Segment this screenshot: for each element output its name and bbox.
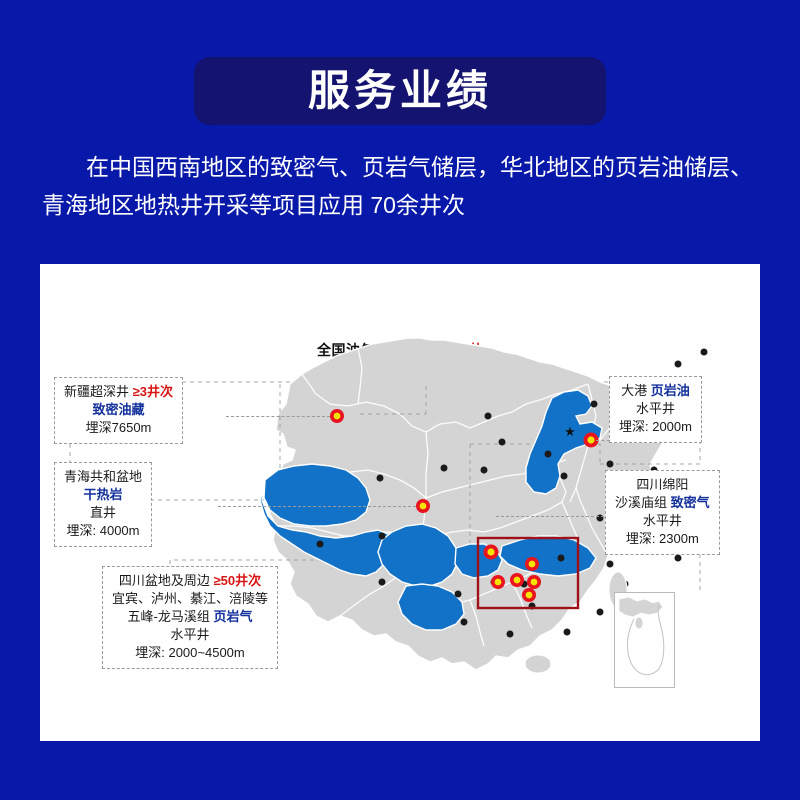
- poster-root: 服务业绩 在中国西南地区的致密气、页岩气储层，华北地区的页岩油储层、青海地区地热…: [0, 0, 800, 800]
- city-dot: [675, 361, 682, 368]
- callout-sichuan[interactable]: 四川盆地及周边 ≥50井次 宜宾、泸州、綦江、涪陵等 五峰-龙马溪组 页岩气 水…: [102, 566, 278, 669]
- marker-qinghai: [416, 499, 430, 513]
- callout-line: 大港 页岩油: [619, 382, 692, 400]
- callout-line: 四川盆地及周边 ≥50井次: [112, 572, 268, 590]
- page-title-box: 服务业绩: [194, 57, 606, 125]
- callout-qinghai[interactable]: 青海共和盆地 干热岩 直井 埋深: 4000m: [54, 462, 152, 547]
- city-dot: [441, 465, 448, 472]
- city-dot: [379, 579, 386, 586]
- callout-line: 埋深: 4000m: [64, 522, 142, 540]
- callout-line: 致密油藏: [64, 401, 173, 419]
- callout-line: 干热岩: [64, 486, 142, 504]
- city-dot: [701, 349, 708, 356]
- city-dot: [607, 561, 614, 568]
- callout-line: 水平井: [112, 626, 268, 644]
- leader-line-qinghai: [218, 506, 416, 507]
- map-card: 全国油气应用已超 70口井: [40, 264, 760, 741]
- callout-line: 埋深: 2300m: [615, 530, 710, 548]
- inset-landmass: [619, 597, 663, 617]
- leader-line-mianyang: [496, 516, 604, 517]
- callout-line: 宜宾、泸州、綦江、涪陵等: [112, 590, 268, 608]
- city-dot: [461, 619, 468, 626]
- marker-sichuan-d: [527, 575, 541, 589]
- callout-line: 四川绵阳: [615, 476, 710, 494]
- page-title: 服务业绩: [308, 70, 492, 112]
- city-dot: [379, 533, 386, 540]
- city-dot: [545, 451, 552, 458]
- marker-sichuan-a: [525, 557, 539, 571]
- city-dot: [499, 439, 506, 446]
- capital-star-icon: ★: [564, 424, 576, 439]
- callout-line: 沙溪庙组 致密气: [615, 494, 710, 512]
- city-dot: [455, 591, 462, 598]
- callout-line: 新疆超深井 ≥3井次: [64, 383, 173, 401]
- callout-xinjiang[interactable]: 新疆超深井 ≥3井次 致密油藏 埋深7650m: [54, 377, 183, 444]
- inset-island: [635, 617, 643, 629]
- callout-line: 水平井: [615, 512, 710, 530]
- callout-dagang[interactable]: 大港 页岩油 水平井 埋深: 2000m: [609, 376, 702, 443]
- south-china-sea-inset: [614, 592, 675, 688]
- marker-sichuan-b: [491, 575, 505, 589]
- page-subtitle: 在中国西南地区的致密气、页岩气储层，华北地区的页岩油储层、青海地区地热井开采等项…: [42, 148, 760, 224]
- city-dot: [507, 631, 514, 638]
- marker-sichuan-e: [522, 588, 536, 602]
- marker-sichuan-c: [510, 573, 524, 587]
- city-dot: [591, 401, 598, 408]
- callout-mianyang[interactable]: 四川绵阳 沙溪庙组 致密气 水平井 埋深: 2300m: [605, 470, 720, 555]
- callout-line: 五峰-龙马溪组 页岩气: [112, 608, 268, 626]
- callout-line: 埋深: 2000m: [619, 418, 692, 436]
- city-dot: [597, 609, 604, 616]
- leader-line-xinjiang: [226, 416, 330, 417]
- city-dot: [561, 473, 568, 480]
- callout-line: 直井: [64, 504, 142, 522]
- callout-line: 水平井: [619, 400, 692, 418]
- city-dot: [675, 555, 682, 562]
- marker-mianyang: [484, 545, 499, 560]
- city-dot: [485, 413, 492, 420]
- city-dot: [377, 475, 384, 482]
- marker-xinjiang: [330, 409, 344, 423]
- island-hainan: [525, 655, 551, 673]
- city-dot: [564, 629, 571, 636]
- callout-line: 埋深7650m: [64, 419, 173, 437]
- city-dot: [607, 461, 614, 468]
- south-china-sea-inset-svg: [615, 593, 674, 687]
- callout-line: 埋深: 2000~4500m: [112, 644, 268, 662]
- city-dot: [317, 541, 324, 548]
- city-dot: [558, 555, 565, 562]
- leader-line-dagang: [596, 440, 610, 441]
- city-dot: [481, 467, 488, 474]
- callout-line: 青海共和盆地: [64, 468, 142, 486]
